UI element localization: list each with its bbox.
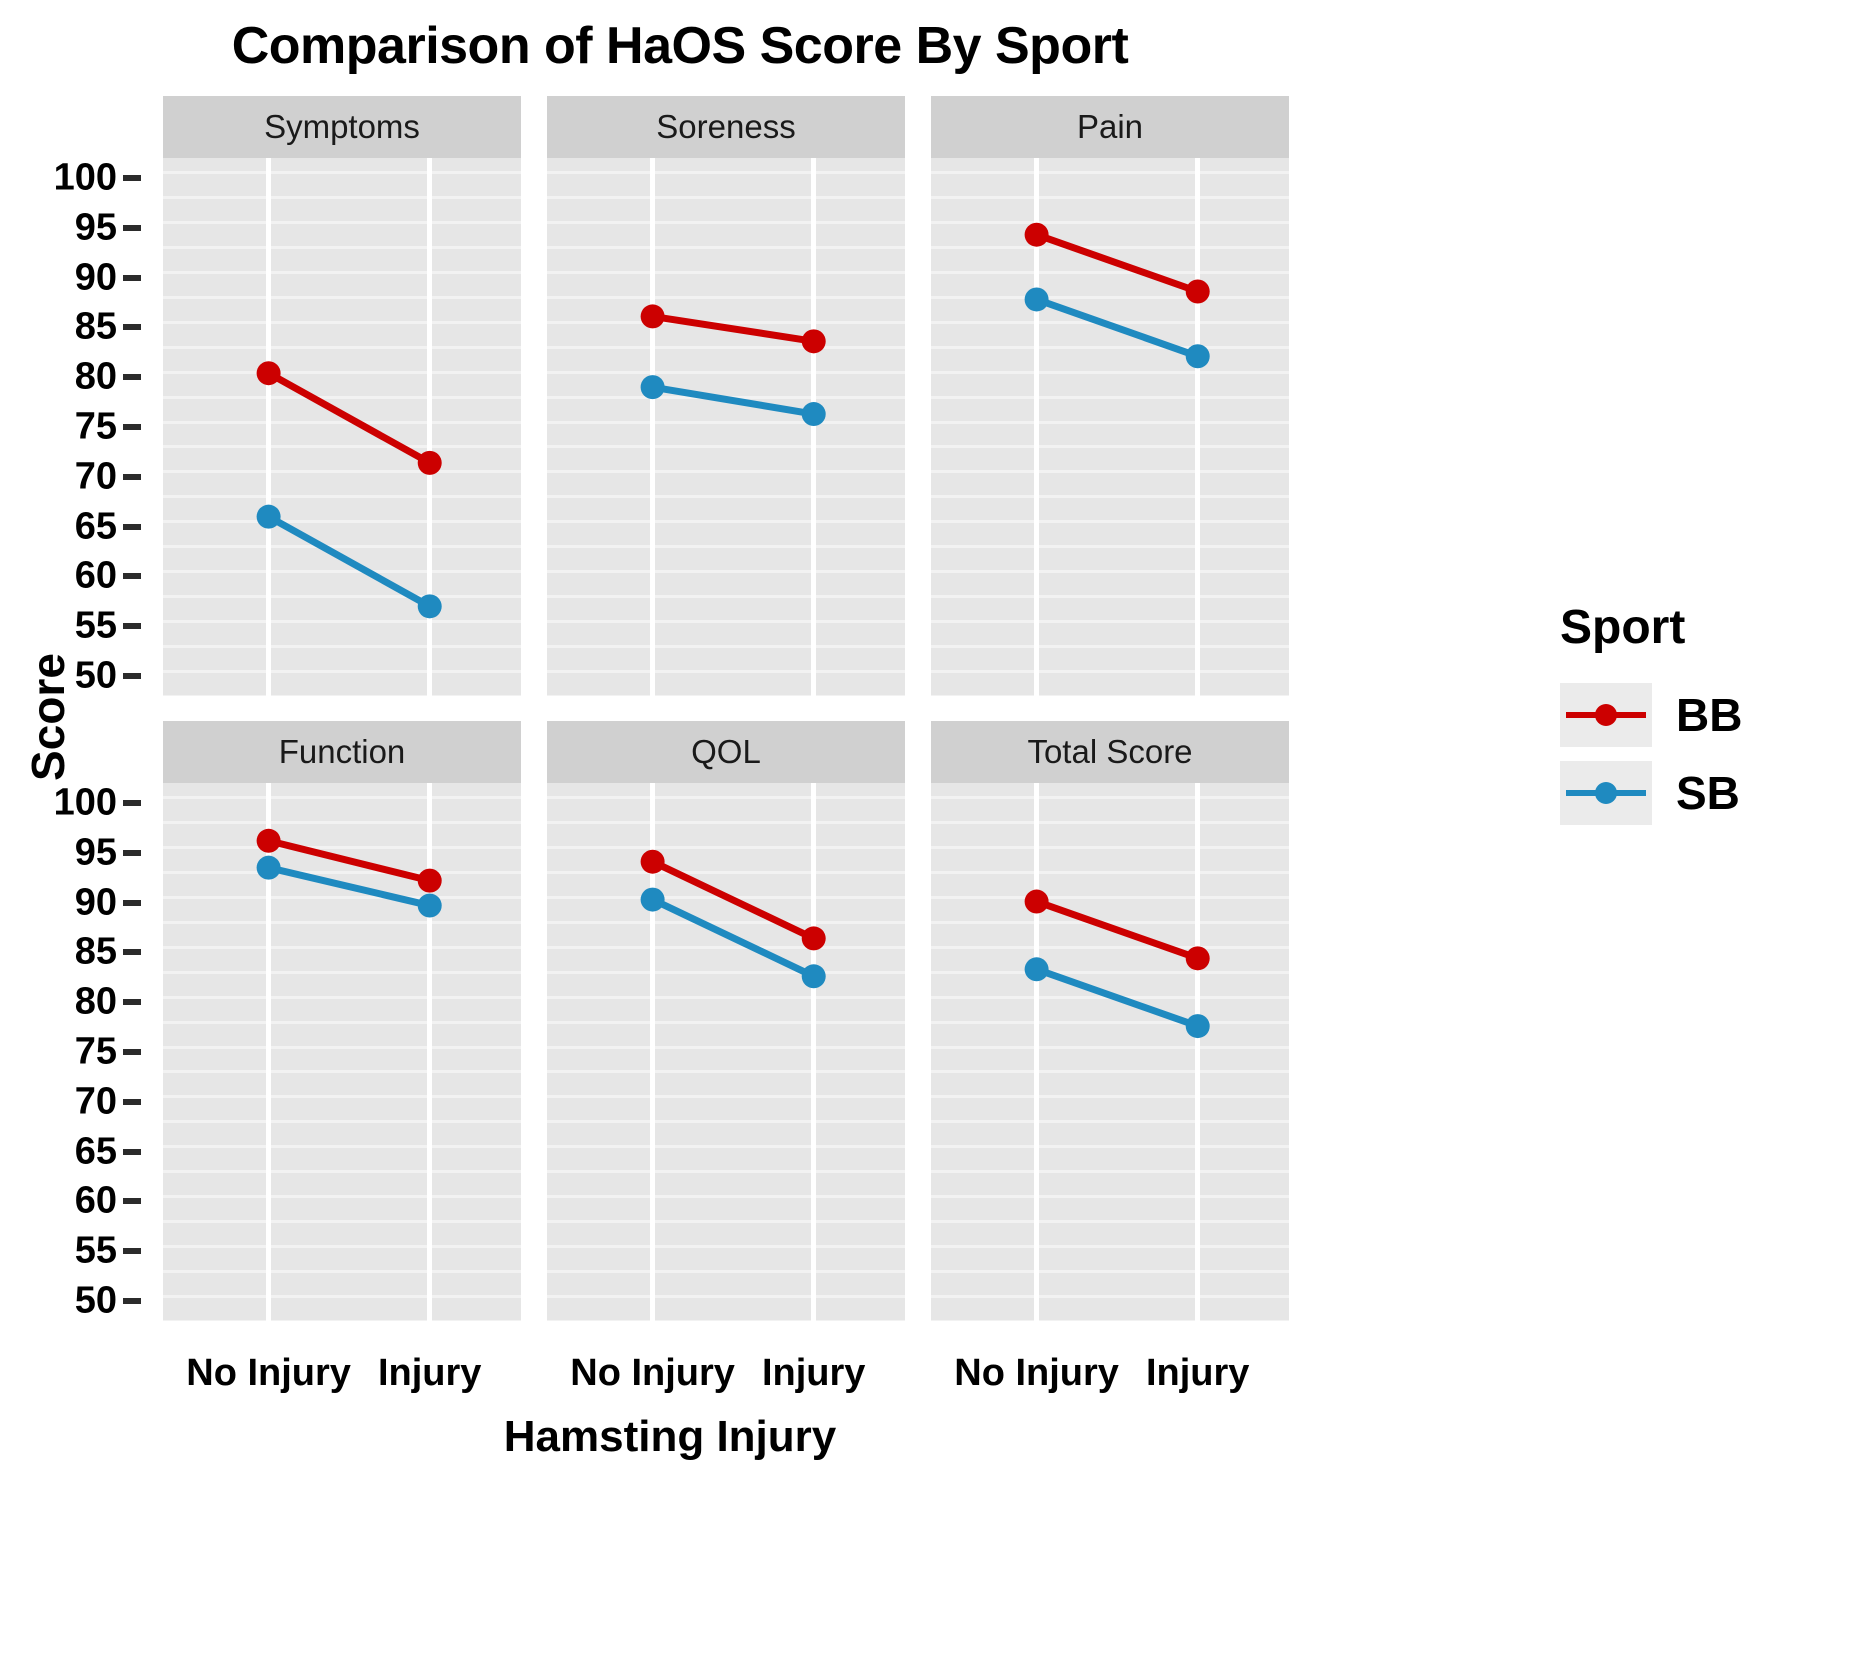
legend-item-label: SB [1676, 766, 1740, 820]
facet-grid: 10095908580757065605550 Symptoms Sorenes… [0, 96, 1340, 1346]
legend-key-swatch [1560, 761, 1652, 825]
y-tick-label: 65 [75, 1130, 117, 1173]
data-point-bb-1 [802, 329, 826, 353]
data-point-bb-1 [1186, 280, 1210, 304]
data-point-bb-1 [1186, 946, 1210, 970]
x-axis: No InjuryInjuryNo InjuryInjuryNo InjuryI… [0, 1352, 1340, 1412]
y-tick-mark [123, 275, 141, 281]
series-line-sb [653, 387, 814, 414]
y-tick-mark [123, 175, 141, 181]
y-tick-mark [123, 1298, 141, 1304]
y-tick-label: 65 [75, 505, 117, 548]
y-axis-title: Score [21, 577, 75, 857]
y-tick-label: 70 [75, 455, 117, 498]
x-tick-label: Injury [1146, 1352, 1249, 1395]
series-layer [931, 158, 1289, 696]
y-tick-label: 80 [75, 356, 117, 399]
series-layer [931, 783, 1289, 1321]
legend-item-bb[interactable]: BB [1560, 683, 1860, 747]
y-tick-label: 85 [75, 306, 117, 349]
y-tick-mark [123, 225, 141, 231]
y-tick-label: 60 [75, 1180, 117, 1223]
data-point-bb-0 [641, 850, 665, 874]
y-tick-label: 90 [75, 881, 117, 924]
y-tick-mark [123, 673, 141, 679]
series-line-sb [269, 517, 430, 607]
data-point-bb-1 [418, 451, 442, 475]
data-point-sb-0 [641, 888, 665, 912]
y-tick-label: 75 [75, 406, 117, 449]
y-tick-mark [123, 850, 141, 856]
y-tick-mark [123, 949, 141, 955]
data-point-sb-0 [257, 505, 281, 529]
y-tick-label: 80 [75, 981, 117, 1024]
panel-strip-label: Total Score [931, 721, 1289, 783]
data-point-sb-1 [418, 594, 442, 618]
legend-item-label: BB [1676, 688, 1742, 742]
facet-row-1: 10095908580757065605550 Symptoms Sorenes… [0, 96, 1340, 696]
y-tick-label: 60 [75, 555, 117, 598]
y-tick-mark [123, 1099, 141, 1105]
panel-function: Function [163, 721, 521, 1321]
y-tick-label: 100 [54, 156, 117, 199]
y-tick-mark [123, 524, 141, 530]
data-point-sb-0 [1025, 287, 1049, 311]
series-layer [547, 158, 905, 696]
data-point-sb-0 [257, 856, 281, 880]
y-tick-label: 95 [75, 206, 117, 249]
y-tick-label: 85 [75, 931, 117, 974]
data-point-sb-0 [1025, 957, 1049, 981]
data-point-bb-0 [1025, 890, 1049, 914]
data-point-sb-1 [418, 894, 442, 918]
series-line-sb [1037, 299, 1198, 356]
facet-row-2: 10095908580757065605550 Function QOL Tot… [0, 721, 1340, 1321]
series-layer [547, 783, 905, 1321]
legend-dot-icon [1595, 782, 1617, 804]
y-tick-label: 55 [75, 1230, 117, 1273]
data-point-sb-1 [1186, 344, 1210, 368]
series-line-bb [653, 862, 814, 939]
chart-root: Comparison of HaOS Score By Sport 100959… [0, 0, 1865, 1667]
y-tick-mark [123, 1198, 141, 1204]
data-point-sb-1 [802, 402, 826, 426]
series-line-bb [269, 373, 430, 463]
x-tick-label: No Injury [570, 1352, 735, 1395]
data-point-bb-0 [257, 829, 281, 853]
y-tick-mark [123, 1248, 141, 1254]
y-tick-mark [123, 374, 141, 380]
series-line-bb [1037, 902, 1198, 959]
data-point-bb-0 [641, 304, 665, 328]
chart-title: Comparison of HaOS Score By Sport [0, 16, 1360, 76]
panel-total-score: Total Score [931, 721, 1289, 1321]
panel-strip-label: Function [163, 721, 521, 783]
panel-pain: Pain [931, 96, 1289, 696]
y-tick-label: 70 [75, 1080, 117, 1123]
panel-strip-label: Soreness [547, 96, 905, 158]
y-tick-label: 50 [75, 655, 117, 698]
x-axis-title: Hamsting Injury [0, 1412, 1340, 1462]
y-tick-label: 95 [75, 831, 117, 874]
legend-key-swatch [1560, 683, 1652, 747]
x-tick-label: No Injury [954, 1352, 1119, 1395]
legend-item-sb[interactable]: SB [1560, 761, 1860, 825]
y-tick-label: 50 [75, 1280, 117, 1323]
series-line-sb [1037, 969, 1198, 1026]
y-tick-mark [123, 1049, 141, 1055]
data-point-bb-0 [257, 361, 281, 385]
panel-qol: QOL [547, 721, 905, 1321]
y-tick-label: 55 [75, 605, 117, 648]
x-tick-label: No Injury [186, 1352, 351, 1395]
y-tick-mark [123, 474, 141, 480]
panel-strip-label: Symptoms [163, 96, 521, 158]
series-line-sb [653, 900, 814, 977]
y-tick-mark [123, 424, 141, 430]
y-tick-mark [123, 800, 141, 806]
data-point-bb-1 [802, 926, 826, 950]
y-tick-mark [123, 999, 141, 1005]
y-tick-label: 75 [75, 1031, 117, 1074]
x-tick-label: Injury [762, 1352, 865, 1395]
y-tick-mark [123, 900, 141, 906]
data-point-sb-0 [641, 375, 665, 399]
panel-soreness: Soreness [547, 96, 905, 696]
data-point-sb-1 [1186, 1014, 1210, 1038]
panel-strip-label: QOL [547, 721, 905, 783]
data-point-bb-0 [1025, 223, 1049, 247]
panel-strip-label: Pain [931, 96, 1289, 158]
legend-items: BBSB [1560, 683, 1860, 825]
y-tick-mark [123, 573, 141, 579]
y-tick-mark [123, 623, 141, 629]
series-line-bb [1037, 235, 1198, 292]
x-tick-label: Injury [378, 1352, 481, 1395]
series-layer [163, 783, 521, 1321]
legend-dot-icon [1595, 704, 1617, 726]
data-point-sb-1 [802, 964, 826, 988]
series-line-bb [653, 316, 814, 341]
y-tick-mark [123, 1149, 141, 1155]
data-point-bb-1 [418, 869, 442, 893]
series-layer [163, 158, 521, 696]
y-tick-mark [123, 324, 141, 330]
y-tick-label: 90 [75, 256, 117, 299]
panel-symptoms: Symptoms [163, 96, 521, 696]
legend-title: Sport [1560, 600, 1860, 655]
legend: Sport BBSB [1560, 600, 1860, 839]
